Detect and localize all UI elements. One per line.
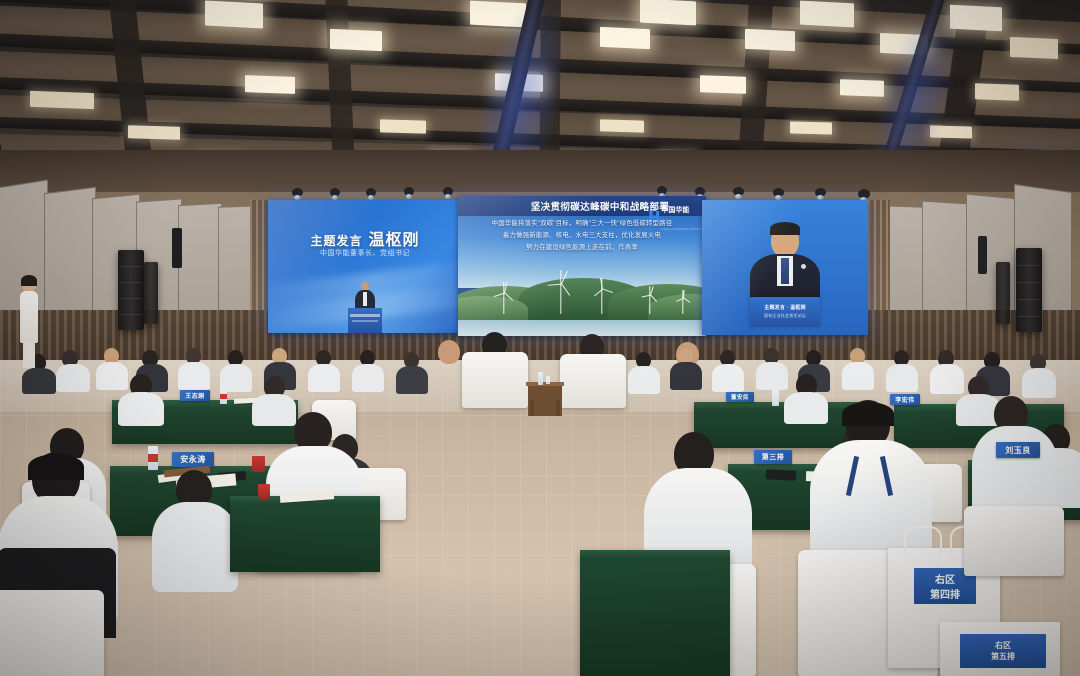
left-projection-screen: 主题发言温枢刚 中国华能董事长、党组书记 — [268, 200, 462, 333]
right-wall-flat-speaker — [978, 236, 987, 274]
name-placard: 王志刚 — [180, 390, 210, 401]
seat-tag-line1: 右区 — [995, 640, 1011, 651]
podium-line-2: 国有企业社会责任论坛 — [750, 313, 820, 319]
right-pa-speaker-stack-inner — [996, 262, 1010, 324]
conference-hall-photo: 主题发言温枢刚 中国华能董事长、党组书记 — [0, 0, 1080, 676]
seat-tag-line2: 第四排 — [930, 586, 960, 601]
right-midground-person — [620, 432, 800, 676]
left-pa-speaker-stack — [118, 250, 144, 330]
wind-turbine-icon — [554, 270, 568, 314]
body-line-3: 努力在建设绿色能源上走在前、作表率 — [466, 242, 698, 254]
name-placard: 董安民 — [726, 392, 754, 402]
left-screen-title: 主题发言温枢刚 — [268, 226, 462, 250]
left-midground-person — [236, 412, 396, 572]
armchair — [560, 354, 626, 408]
center-screen-header: 坚决贯彻碳达峰碳中和战略部署 中国华能 CHINA HUANENG GROUP — [458, 196, 706, 216]
left-screen-subtitle: 中国华能董事长、党组书记 — [268, 248, 462, 258]
wind-turbine-icon — [498, 282, 510, 314]
seat-tag-line2: 第五排 — [991, 651, 1015, 662]
left-wall-flat-speaker — [172, 228, 182, 268]
chair-cover — [0, 590, 104, 676]
name-badge — [856, 494, 880, 511]
podium-line-1: 主题发言 · 温枢刚 — [750, 304, 820, 311]
body-line-1: 中国华能将落实“双碳”目标，明确“三大一快”绿色低碳转型路径 — [466, 218, 698, 230]
speaker-live-feed — [752, 224, 818, 308]
armchair — [462, 352, 528, 408]
wind-turbine-icon — [678, 290, 688, 314]
left-pa-speaker-stack-inner — [144, 262, 158, 324]
hostess — [12, 276, 46, 370]
far-right-person: 刘玉良 — [960, 396, 1080, 576]
seat-tag-line1: 右区 — [935, 571, 955, 586]
center-projection-screen: 坚决贯彻碳达峰碳中和战略部署 中国华能 CHINA HUANENG GROUP … — [458, 196, 706, 336]
right-pa-speaker-stack — [1016, 248, 1042, 332]
bag-handle — [904, 526, 942, 554]
bottom-right-bag: 右区 第五排 — [940, 618, 1080, 676]
name-placard: 刘玉良 — [996, 442, 1040, 458]
right-projection-screen: 主题发言 · 温枢刚 国有企业社会责任论坛 — [702, 200, 868, 335]
body-line-2: 着力做强新能源、核电、水电三大支柱，优化发展火电 — [466, 230, 698, 242]
hills-illustration — [458, 276, 706, 322]
logo-cn-text: 中国华能 — [661, 207, 689, 214]
wind-turbine-icon — [644, 286, 655, 314]
wind-turbine-icon — [596, 278, 608, 314]
center-screen-body: 中国华能将落实“双碳”目标，明确“三大一快”绿色低碳转型路径 着力做强新能源、核… — [458, 218, 706, 254]
podium-on-screen: 主题发言 · 温枢刚 国有企业社会责任论坛 — [750, 297, 820, 327]
